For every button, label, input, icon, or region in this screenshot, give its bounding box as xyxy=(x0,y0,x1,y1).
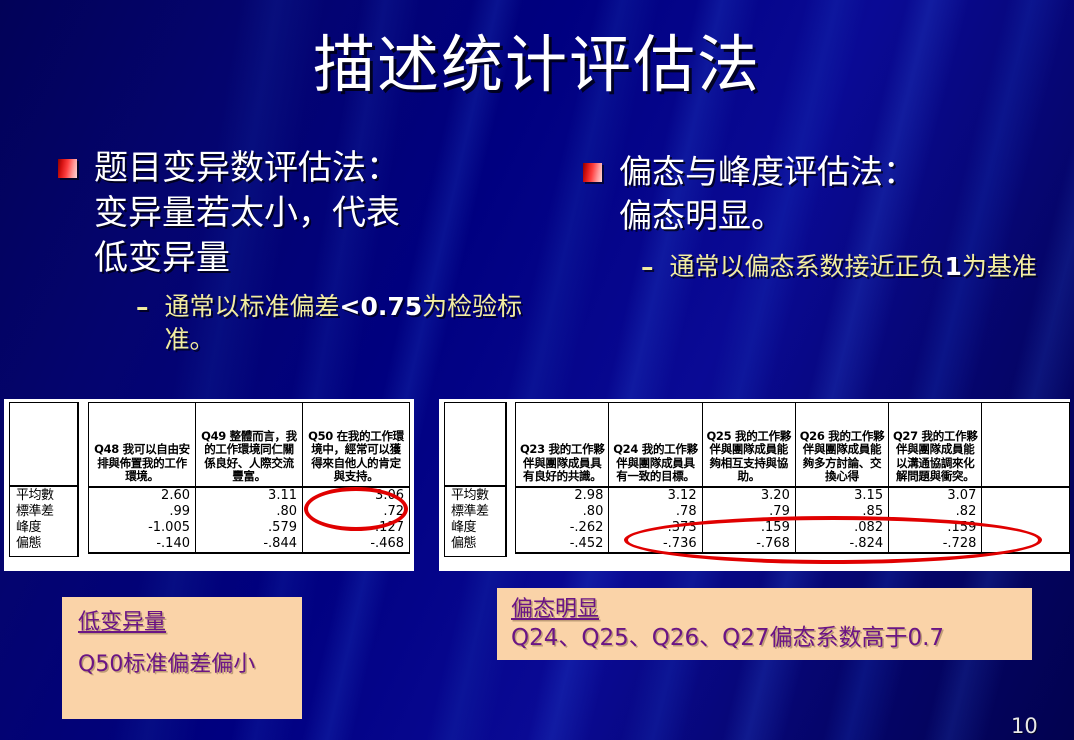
table-row: -.140 -.844 -.468 xyxy=(89,536,410,553)
bullet-heading-right: 偏态与峰度评估法： 偏态明显。 xyxy=(619,150,916,238)
cell-spacer xyxy=(982,536,1070,553)
column-header: Q27 我的工作夥伴與團隊成員能以溝通協調來化解問題與衝突。 xyxy=(889,403,982,487)
bullet-item-left: 题目变异数评估法： 变异量若太小，代表 低变异量 xyxy=(58,146,558,282)
bullet-heading-line: 低变异量 xyxy=(94,236,400,281)
cell: -1.005 xyxy=(89,520,196,536)
column-header: Q50 在我的工作環境中，經常可以獲得來自他人的肯定與支持。 xyxy=(303,403,410,487)
red-square-bullet-icon xyxy=(583,163,602,182)
sub-bullet-right: – 通常以偏态系数接近正负1为基准 xyxy=(641,250,1051,283)
row-label: 峰度 xyxy=(16,520,72,536)
bullet-column-left: 题目变异数评估法： 变异量若太小，代表 低变异量 – 通常以标准偏差<0.75为… xyxy=(58,146,558,356)
cell: .85 xyxy=(795,504,888,520)
row-label-list: 平均數 標準差 峰度 偏態 xyxy=(445,487,505,556)
row-label: 峰度 xyxy=(451,520,500,536)
dash-bullet-icon: – xyxy=(641,250,654,283)
cell-spacer xyxy=(982,504,1070,520)
cell: .579 xyxy=(196,520,303,536)
cell: -.824 xyxy=(795,536,888,553)
cell: .159 xyxy=(702,520,795,536)
bullet-heading-line: 偏态明显。 xyxy=(619,194,916,238)
cell: 3.07 xyxy=(889,487,982,504)
dash-bullet-icon: – xyxy=(136,290,149,323)
cell-spacer xyxy=(982,520,1070,536)
row-label: 標準差 xyxy=(16,504,72,520)
cell: -.140 xyxy=(89,536,196,553)
red-square-bullet-icon xyxy=(58,159,77,178)
cell: .79 xyxy=(702,504,795,520)
sub-text-emphasis: 1 xyxy=(945,252,962,281)
cell: -.262 xyxy=(516,520,609,536)
table-header-row: Q48 我可以自由安排與佈置我的工作環境。 Q49 整體而言，我的工作環境同仁關… xyxy=(89,403,410,487)
right-callout: 偏态明显 Q24、Q25、Q26、Q27偏态系数高于0.7 xyxy=(497,588,1032,660)
cell: .373 xyxy=(609,520,702,536)
cell: .082 xyxy=(795,520,888,536)
right-spss-table: 平均數 標準差 峰度 偏態 Q23 我的工作夥伴與團隊成員具有良好的共識。 Q2… xyxy=(439,399,1070,571)
sub-bullet-text-left: 通常以标准偏差<0.75为检验标准。 xyxy=(165,290,552,356)
cell: -.736 xyxy=(609,536,702,553)
cell: 3.15 xyxy=(795,487,888,504)
row-label-column: 平均數 標準差 峰度 偏態 xyxy=(444,402,507,557)
sub-text-emphasis: <0.75 xyxy=(340,292,423,321)
cell: 2.98 xyxy=(516,487,609,504)
cell: .127 xyxy=(303,520,410,536)
column-header: Q25 我的工作夥伴與團隊成員能夠相互支持與協助。 xyxy=(702,403,795,487)
cell: 2.60 xyxy=(89,487,196,504)
table-row: .80 .78 .79 .85 .82 xyxy=(516,504,1070,520)
sub-bullet-left: – 通常以标准偏差<0.75为检验标准。 xyxy=(136,290,551,356)
cell: -.728 xyxy=(889,536,982,553)
row-label-column: 平均數 標準差 峰度 偏態 xyxy=(9,402,79,557)
row-label: 平均數 xyxy=(16,488,72,504)
table-row: -.452 -.736 -.768 -.824 -.728 xyxy=(516,536,1070,553)
cell: 3.20 xyxy=(702,487,795,504)
data-grid: Q23 我的工作夥伴與團隊成員具有良好的共識。 Q24 我的工作夥伴與團隊成員具… xyxy=(515,402,1070,554)
cell: .159 xyxy=(889,520,982,536)
column-header: Q49 整體而言，我的工作環境同仁關係良好、人際交流豐富。 xyxy=(196,403,303,487)
sub-text-post: 为基准 xyxy=(962,252,1037,281)
cell: -.844 xyxy=(196,536,303,553)
column-header: Q23 我的工作夥伴與團隊成員具有良好的共識。 xyxy=(516,403,609,487)
cell: -.452 xyxy=(516,536,609,553)
cell: -.468 xyxy=(303,536,410,553)
cell: 3.12 xyxy=(609,487,702,504)
cell: .72 xyxy=(303,504,410,520)
table-row: -1.005 .579 .127 xyxy=(89,520,410,536)
row-label: 偏態 xyxy=(451,536,500,552)
table-row: 2.98 3.12 3.20 3.15 3.07 xyxy=(516,487,1070,504)
left-spss-table: 平均數 標準差 峰度 偏態 Q48 我可以自由安排與佈置我的工作環境。 Q49 … xyxy=(4,399,414,571)
table-row: 2.60 3.11 3.06 xyxy=(89,487,410,504)
callout-heading: 偏态明显 xyxy=(511,596,1032,623)
row-label-header-blank xyxy=(445,403,505,487)
column-header: Q26 我的工作夥伴與團隊成員能夠多方討論、交換心得 xyxy=(795,403,888,487)
bullet-column-right: 偏态与峰度评估法： 偏态明显。 – 通常以偏态系数接近正负1为基准 xyxy=(583,150,1053,283)
data-grid: Q48 我可以自由安排與佈置我的工作環境。 Q49 整體而言，我的工作環境同仁關… xyxy=(88,402,410,554)
cell: -.768 xyxy=(702,536,795,553)
page-title: 描述统计评估法 xyxy=(0,32,1074,97)
column-header-spacer xyxy=(982,403,1070,487)
sub-text-pre: 通常以偏态系数接近正负 xyxy=(670,252,945,281)
table-header-row: Q23 我的工作夥伴與團隊成員具有良好的共識。 Q24 我的工作夥伴與團隊成員具… xyxy=(516,403,1070,487)
cell: 3.06 xyxy=(303,487,410,504)
page-number: 10 xyxy=(1011,714,1061,738)
cell: .80 xyxy=(196,504,303,520)
cell: .80 xyxy=(516,504,609,520)
bullet-heading-line: 偏态与峰度评估法： xyxy=(619,150,916,194)
left-callout: 低变异量 Q50标准偏差偏小 xyxy=(62,597,302,719)
table-row: -.262 .373 .159 .082 .159 xyxy=(516,520,1070,536)
table-inner: 平均數 標準差 峰度 偏態 Q23 我的工作夥伴與團隊成員具有良好的共識。 Q2… xyxy=(444,402,1070,557)
callout-body: Q24、Q25、Q26、Q27偏态系数高于0.7 xyxy=(511,624,1032,653)
slide-canvas: 描述统计评估法 题目变异数评估法： 变异量若太小，代表 低变异量 – 通常以标准… xyxy=(0,0,1074,740)
row-label-list: 平均數 標準差 峰度 偏態 xyxy=(10,487,77,556)
table-inner: 平均數 標準差 峰度 偏態 Q48 我可以自由安排與佈置我的工作環境。 Q49 … xyxy=(9,402,410,557)
callout-body: Q50标准偏差偏小 xyxy=(78,650,288,679)
sub-text-pre: 通常以标准偏差 xyxy=(165,292,340,321)
column-header: Q48 我可以自由安排與佈置我的工作環境。 xyxy=(89,403,196,487)
callout-heading: 低变异量 xyxy=(78,609,288,636)
bullet-heading-line: 题目变异数评估法： xyxy=(94,146,400,191)
column-header: Q24 我的工作夥伴與團隊成員具有一致的目標。 xyxy=(609,403,702,487)
bullet-item-right: 偏态与峰度评估法： 偏态明显。 xyxy=(583,150,1053,238)
bullet-heading-line: 变异量若太小，代表 xyxy=(94,191,400,236)
bullet-heading-left: 题目变异数评估法： 变异量若太小，代表 低变异量 xyxy=(94,146,400,282)
sub-bullet-text-right: 通常以偏态系数接近正负1为基准 xyxy=(670,250,1037,283)
table-row: .99 .80 .72 xyxy=(89,504,410,520)
row-label: 標準差 xyxy=(451,504,500,520)
cell: .99 xyxy=(89,504,196,520)
row-label-header-blank xyxy=(10,403,77,487)
cell: 3.11 xyxy=(196,487,303,504)
cell: .78 xyxy=(609,504,702,520)
cell: .82 xyxy=(889,504,982,520)
row-label: 平均數 xyxy=(451,488,500,504)
cell-spacer xyxy=(982,487,1070,504)
row-label: 偏態 xyxy=(16,536,72,552)
